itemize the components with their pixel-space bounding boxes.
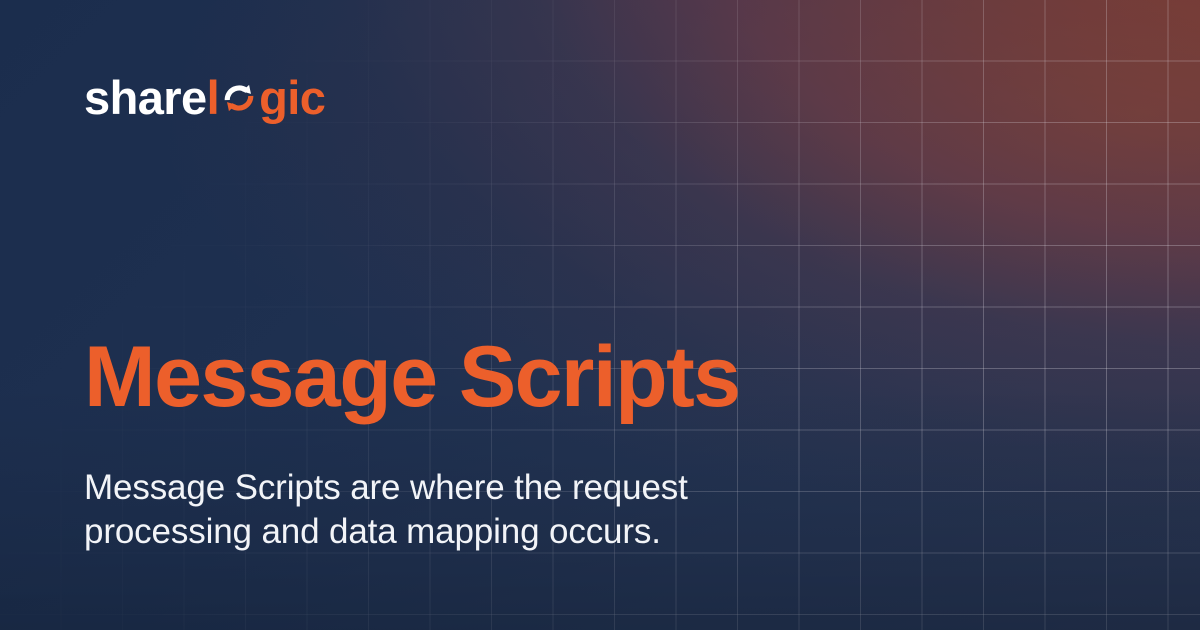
sharelogic-logo[interactable]: share l gic: [84, 74, 325, 121]
sync-circular-arrows-icon: [220, 79, 258, 117]
page-title: Message Scripts: [84, 332, 740, 422]
page-subtitle: Message Scripts are where the request pr…: [84, 466, 784, 554]
social-share-banner: share l gic Message Scripts Message Scri…: [0, 0, 1200, 630]
logo-text-gic: gic: [259, 74, 325, 121]
logo-text-share: share: [84, 74, 207, 121]
logo-text-l: l: [207, 74, 220, 121]
banner-content: share l gic Message Scripts Message Scri…: [0, 0, 1200, 630]
